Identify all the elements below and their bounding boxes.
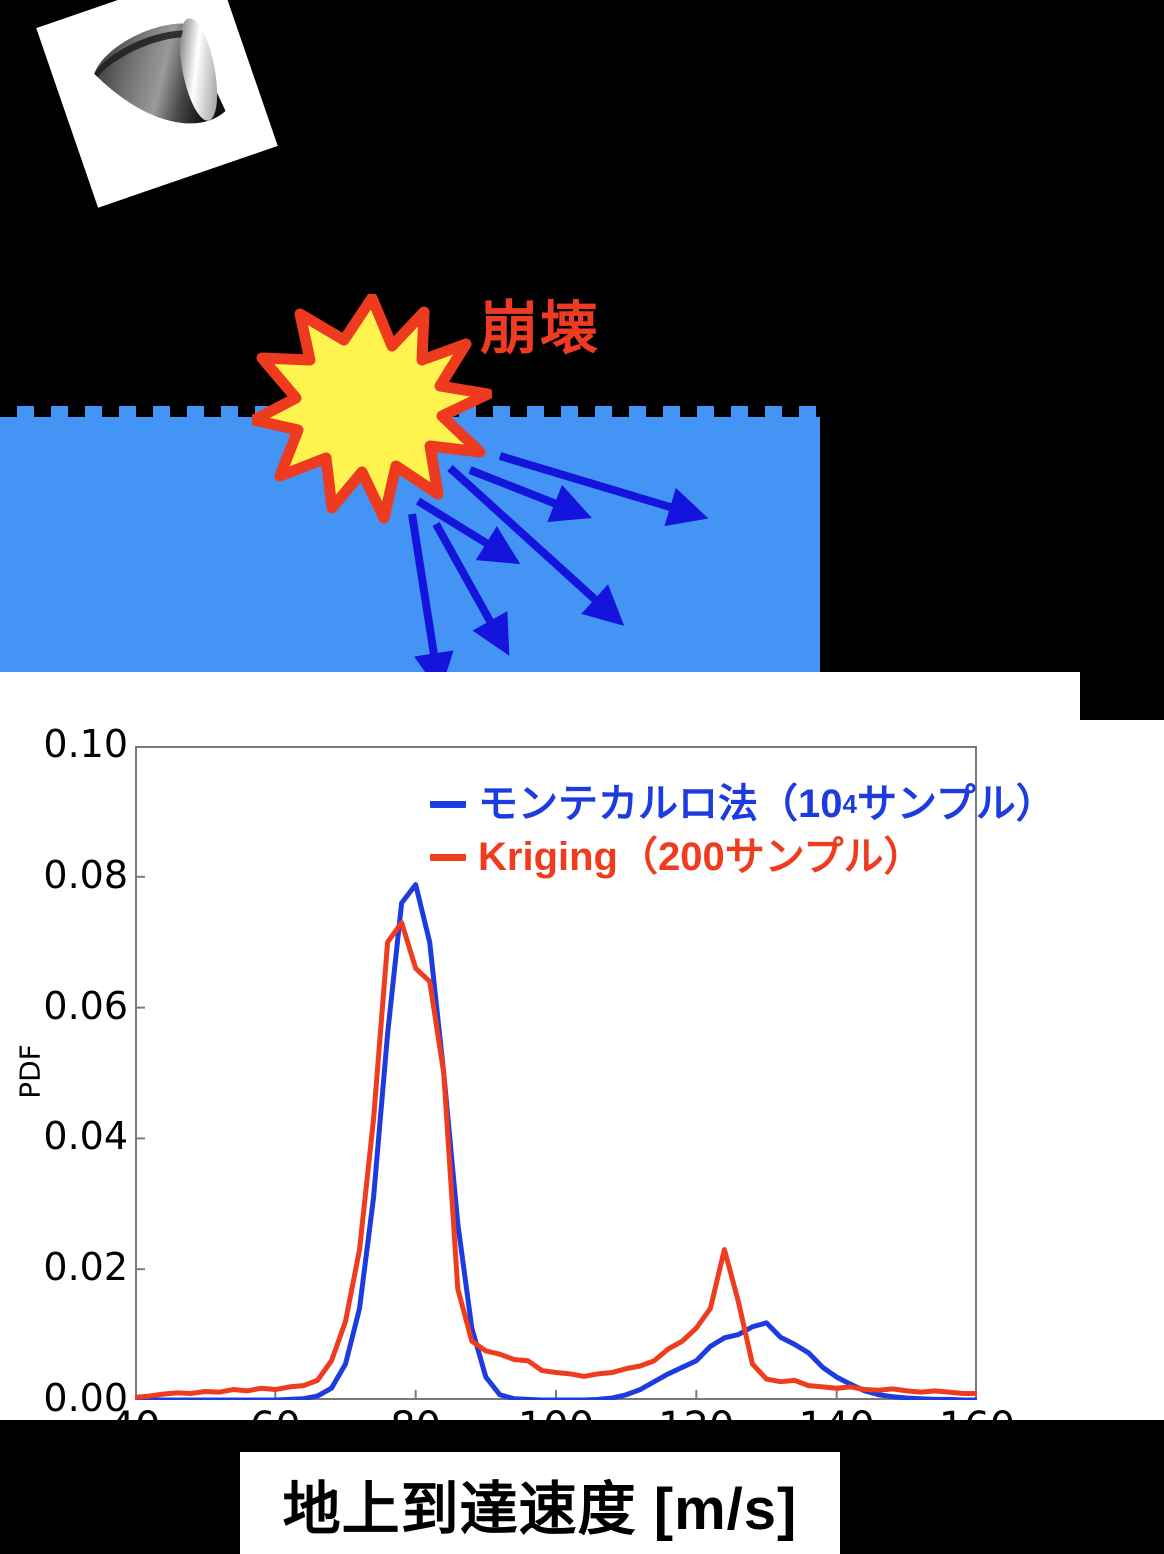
- arrow-6: [412, 514, 437, 674]
- x-axis-title: 地上到達速度 [m/s]: [0, 1462, 1080, 1546]
- x-tick-label: 140: [777, 1404, 897, 1450]
- y-tick-label: 0.10: [18, 722, 128, 766]
- legend-label-kriging: Kriging（200サンプル）: [478, 831, 924, 884]
- y-tick-label: 0.02: [18, 1245, 128, 1289]
- explosion-starburst-icon: [252, 294, 492, 528]
- x-tick-label: 40: [75, 1404, 195, 1450]
- x-tick-label: 120: [636, 1404, 756, 1450]
- legend-swatch-monte-carlo: [430, 801, 466, 808]
- y-tick-label: 0.08: [18, 853, 128, 897]
- x-tick-label: 160: [917, 1404, 1037, 1450]
- series-line-monte-carlo: [135, 885, 977, 1400]
- burst-label: 崩壊: [480, 300, 600, 358]
- arrow-1: [500, 456, 690, 513]
- legend-label-monte-carlo-suffix: サンプル）: [857, 778, 1056, 831]
- chart-legend: モンテカルロ法（104サンプル） Kriging（200サンプル）: [430, 778, 1056, 884]
- y-axis-ticks: 0.000.020.040.060.080.10: [10, 0, 128, 1554]
- x-tick-label: 100: [496, 1404, 616, 1450]
- x-axis-ticks: 406080100120140160: [0, 1404, 1164, 1464]
- y-axis-title: PDF: [14, 1012, 47, 1132]
- series-line-kriging: [135, 923, 977, 1398]
- legend-item-monte-carlo: モンテカルロ法（104サンプル）: [430, 778, 1056, 831]
- legend-item-kriging: Kriging（200サンプル）: [430, 831, 1056, 884]
- legend-label-monte-carlo-prefix: モンテカルロ法（10: [478, 778, 843, 831]
- legend-swatch-kriging: [430, 854, 466, 861]
- legend-label-monte-carlo-exponent: 4: [843, 787, 857, 821]
- x-tick-label: 80: [356, 1404, 476, 1450]
- x-tick-label: 60: [215, 1404, 335, 1450]
